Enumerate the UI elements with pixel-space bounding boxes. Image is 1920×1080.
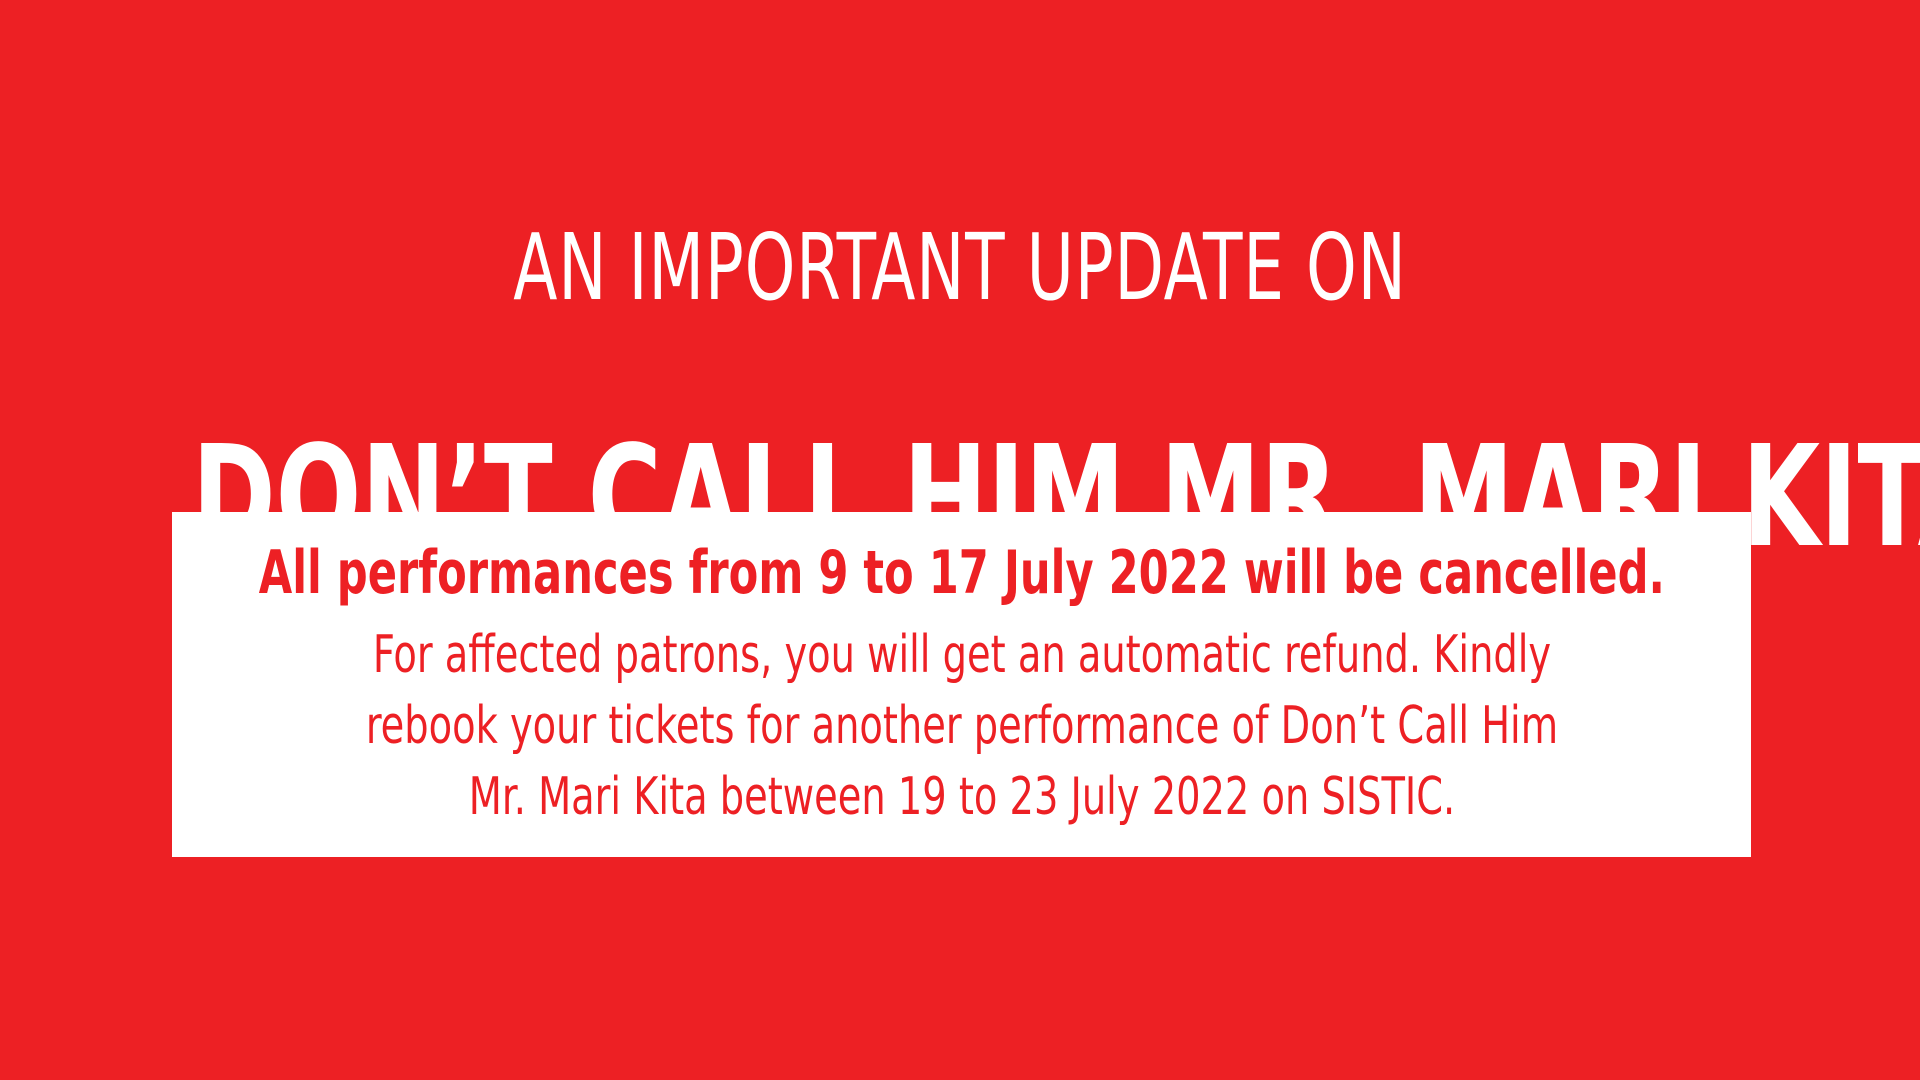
notice-body-line-3: Mr. Mari Kita between 19 to 23 July 2022… [365, 762, 1557, 833]
notice-body: For affected patrons, you will get an au… [365, 620, 1557, 833]
announcement-poster: AN IMPORTANT UPDATE ON DON’T CALL HIM MR… [0, 0, 1920, 1080]
notice-body-line-1: For affected patrons, you will get an au… [365, 620, 1557, 691]
notice-headline: All performances from 9 to 17 July 2022 … [258, 540, 1664, 606]
poster-kicker: AN IMPORTANT UPDATE ON [211, 222, 1709, 314]
notice-panel: All performances from 9 to 17 July 2022 … [172, 512, 1751, 857]
notice-body-line-2: rebook your tickets for another performa… [365, 691, 1557, 762]
